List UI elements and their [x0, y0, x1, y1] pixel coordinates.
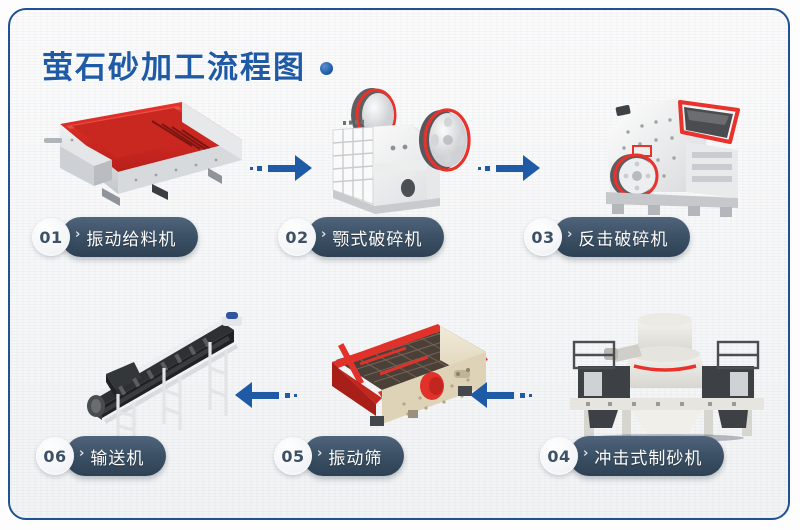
chevron-right-icon: › — [583, 446, 588, 461]
step-label-04[interactable]: 04 › 冲击式制砂机 — [540, 435, 724, 477]
flowchart-canvas: 萤石砂加工流程图 — [0, 0, 800, 530]
step-label-01[interactable]: 01 › 振动给料机 — [32, 216, 198, 258]
machine-impact-crusher — [588, 80, 768, 220]
arrow-head-right — [295, 155, 312, 181]
arrow-shaft — [251, 392, 279, 399]
machine-belt-conveyor — [72, 302, 272, 442]
step-label-text-06: 输送机 — [90, 444, 144, 469]
bullet-dot-icon — [320, 62, 333, 75]
step-label-text-04: 冲击式制砂机 — [594, 444, 702, 469]
step-pill-03[interactable]: › 反击破碎机 — [553, 217, 690, 257]
step-pill-06[interactable]: › 输送机 — [65, 436, 166, 476]
chevron-right-icon: › — [79, 446, 84, 461]
arrow-04-to-05 — [470, 382, 532, 408]
page-title: 萤石砂加工流程图 — [42, 42, 333, 87]
arrow-head-left — [470, 382, 487, 408]
chevron-right-icon: › — [567, 227, 572, 242]
arrow-dots — [285, 393, 297, 398]
step-label-06[interactable]: 06 › 输送机 — [36, 435, 166, 477]
step-number-03: 03 — [524, 218, 562, 256]
step-pill-05[interactable]: › 振动筛 — [303, 436, 404, 476]
arrow-02-to-03 — [478, 155, 540, 181]
arrow-dots — [520, 393, 532, 398]
step-label-02[interactable]: 02 › 颚式破碎机 — [278, 216, 444, 258]
machine-jaw-crusher — [315, 78, 490, 218]
step-label-text-05: 振动筛 — [328, 444, 382, 469]
arrow-dots — [478, 166, 490, 171]
step-pill-01[interactable]: › 振动给料机 — [61, 217, 198, 257]
step-pill-04[interactable]: › 冲击式制砂机 — [569, 436, 724, 476]
step-number-02: 02 — [278, 218, 316, 256]
diagram-frame: 萤石砂加工流程图 — [8, 8, 790, 520]
page-title-text: 萤石砂加工流程图 — [42, 42, 306, 87]
step-label-text-02: 颚式破碎机 — [332, 225, 422, 250]
machine-vsi-sand-maker — [560, 310, 775, 440]
step-label-05[interactable]: 05 › 振动筛 — [274, 435, 404, 477]
arrow-head-right — [523, 155, 540, 181]
arrow-head-left — [235, 382, 252, 408]
chevron-right-icon: › — [317, 446, 322, 461]
step-label-text-03: 反击破碎机 — [578, 225, 668, 250]
step-number-04: 04 — [540, 437, 578, 475]
chevron-right-icon: › — [321, 227, 326, 242]
arrow-shaft — [486, 392, 514, 399]
arrow-shaft — [268, 165, 296, 172]
step-number-06: 06 — [36, 437, 74, 475]
step-label-text-01: 振动给料机 — [86, 225, 176, 250]
arrow-05-to-06 — [235, 382, 297, 408]
step-pill-02[interactable]: › 颚式破碎机 — [307, 217, 444, 257]
machine-vibrating-feeder — [32, 88, 247, 208]
step-number-01: 01 — [32, 218, 70, 256]
arrow-shaft — [496, 165, 524, 172]
chevron-right-icon: › — [75, 227, 80, 242]
machine-vibrating-screen — [308, 312, 500, 434]
arrow-dots — [250, 166, 262, 171]
step-label-03[interactable]: 03 › 反击破碎机 — [524, 216, 690, 258]
step-number-05: 05 — [274, 437, 312, 475]
arrow-01-to-02 — [250, 155, 312, 181]
